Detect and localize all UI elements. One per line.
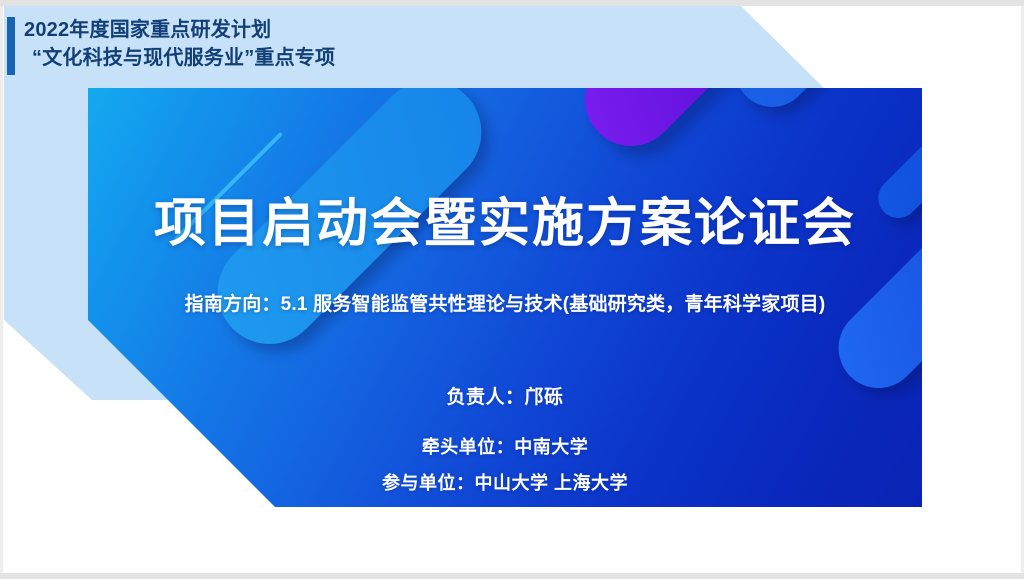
header-accent-bar	[7, 17, 15, 75]
presentation-slide: 2022年度国家重点研发计划 “文化科技与现代服务业”重点专项	[0, 0, 1024, 579]
left-edge-strip	[0, 6, 3, 573]
pill-dark-topright	[720, 88, 922, 122]
bottom-edge-strip	[0, 573, 1024, 579]
program-header-line-1: 2022年度国家重点研发计划	[24, 16, 664, 44]
program-header: 2022年度国家重点研发计划 “文化科技与现代服务业”重点专项	[24, 16, 664, 73]
top-edge-strip	[0, 0, 1024, 6]
hero-card	[88, 88, 922, 507]
pill-dark-mid	[870, 88, 922, 226]
pill-lower-left	[196, 88, 503, 366]
pill-lower-right	[822, 115, 922, 405]
program-header-line-2: “文化科技与现代服务业”重点专项	[32, 44, 664, 72]
